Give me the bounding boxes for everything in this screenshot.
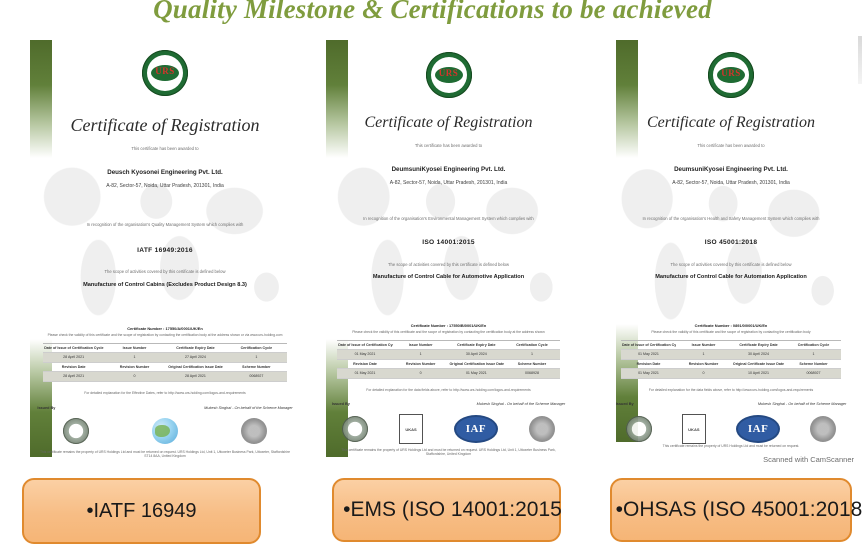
table-cell: 1 <box>786 350 841 358</box>
slide-root: Quality Milestone & Certifications to be… <box>0 0 865 556</box>
company-address: A-82, Sector-57, Noida, Uttar Pradesh, 2… <box>20 183 310 189</box>
table-cell: 30 April 2024 <box>731 350 786 358</box>
standard-name: ISO 45001:2018 <box>600 239 862 246</box>
table-cell: 28 April 2021 <box>43 372 104 380</box>
table-cell: Issue Number <box>393 341 449 349</box>
table-cell: 30 April 2024 <box>449 350 505 358</box>
table-row: Date of Issue of Certification Cycle Iss… <box>621 341 841 350</box>
table-cell: Original Certification Issue Date <box>165 363 226 371</box>
certificate-number: Certificate Number : 0891/0/0001/UK/En <box>621 323 841 328</box>
iaf-logo-icon: IAF <box>454 415 498 443</box>
table-cell: Scheme Number <box>504 360 560 368</box>
certificate-image-ems[interactable]: URS Certificate of Registration This cer… <box>316 36 581 461</box>
details-table: Date of Issue of Certification Cycle Iss… <box>337 340 560 379</box>
urs-seal-icon: URS <box>426 52 472 98</box>
table-cell: Revision Date <box>43 363 104 371</box>
table-cell: Revision Date <box>337 360 393 368</box>
scope-intro: The scope of activities covered by this … <box>600 262 862 267</box>
table-cell: 1 <box>104 353 165 361</box>
details-table: Date of Issue of Certification Cycle Iss… <box>621 340 841 379</box>
table-cell: Scheme Number <box>786 360 841 368</box>
ukas-logo-icon: UKAS <box>682 414 706 444</box>
table-cell: 1 <box>226 353 287 361</box>
iaf-earth-logo-icon <box>152 418 178 444</box>
awarded-line: This certificate has been awarded to <box>316 143 581 148</box>
accreditation-logos <box>32 418 299 444</box>
table-row: 28 April 2021 0 28 April 2021 0068927 <box>43 372 287 381</box>
table-row: Date of Issue of Certification Cycle Iss… <box>43 344 287 353</box>
camscanner-watermark: Scanned with CamScanner <box>763 455 854 464</box>
table-cell: 0068928 <box>504 369 560 377</box>
table-cell: Revision Date <box>621 360 676 368</box>
table-cell: 01 May 2021 <box>621 369 676 377</box>
green-accent-bar-top <box>30 40 52 158</box>
table-row: Date of Issue of Certification Cycle Iss… <box>337 341 560 350</box>
caption-box-iatf[interactable]: •IATF 16949 <box>22 478 261 544</box>
urs-seal-icon: URS <box>708 52 754 98</box>
table-cell: 1 <box>676 350 731 358</box>
caption-box-ems[interactable]: •EMS (ISO 14001:2015 <box>332 478 561 542</box>
details-table: Date of Issue of Certification Cycle Iss… <box>43 343 287 382</box>
recognition-line: In recognition of the organisation's Env… <box>316 216 581 221</box>
caption-box-ohsas[interactable]: •OHSAS (ISO 45001:2018 <box>610 478 852 542</box>
table-row: 01 May 2021 1 30 April 2024 1 <box>337 350 560 359</box>
awarded-line: This certificate has been awarded to <box>20 146 310 151</box>
page-edge-shadow <box>858 36 862 84</box>
table-footer: For detailed explanation for the data fi… <box>616 388 847 392</box>
urs-seal-logo-icon <box>63 418 89 444</box>
table-cell: 01 May 2021 <box>337 369 393 377</box>
table-row: Revision Date Revision Number Original C… <box>337 360 560 369</box>
table-cell: 10 April 2021 <box>731 369 786 377</box>
urs-seal-label: URS <box>708 68 754 78</box>
iaf-logo-icon: IAF <box>736 415 780 443</box>
table-cell: Certification Cycle <box>786 341 841 349</box>
table-cell: Date of Issue of Certification Cycle <box>337 341 393 349</box>
table-cell: Scheme Number <box>226 363 287 371</box>
urs-seal-logo-icon <box>342 416 368 442</box>
table-cell: Certificate Expiry Date <box>731 341 786 349</box>
certificate-footer-note: This certificate remains the property of… <box>332 448 565 457</box>
grey-seal-logo-icon <box>529 416 555 442</box>
company-name: DeumsuniKyosei Engineering Pvt. Ltd. <box>316 166 581 173</box>
table-row: Revision Date Revision Number Original C… <box>43 363 287 372</box>
table-cell: 1 <box>504 350 560 358</box>
table-cell: Original Certificate Issue Date <box>731 360 786 368</box>
issued-by-label: Issued By <box>332 402 350 406</box>
green-accent-bar-top <box>616 40 638 158</box>
certificate-heading: Certificate of Registration <box>316 114 581 132</box>
caption-label: •OHSAS (ISO 45001:2018 <box>616 498 863 522</box>
table-cell: Issue Number <box>104 344 165 352</box>
table-cell: Revision Number <box>676 360 731 368</box>
recognition-line: In recognition of the organisation's Hea… <box>600 216 862 221</box>
table-cell: Issue Number <box>676 341 731 349</box>
table-cell: 01 May 2021 <box>449 369 505 377</box>
table-row: 01 May 2021 0 10 April 2021 0068927 <box>621 369 841 378</box>
table-row: 01 May 2021 0 01 May 2021 0068928 <box>337 369 560 378</box>
table-cell: Certificate Expiry Date <box>165 344 226 352</box>
accreditation-logos: UKAS IAF <box>610 414 851 444</box>
table-cell: 0 <box>676 369 731 377</box>
table-cell: 1 <box>393 350 449 358</box>
table-cell: Date of Issue of Certification Cycle <box>621 341 676 349</box>
table-cell: 01 May 2021 <box>337 350 393 358</box>
grey-seal-logo-icon <box>810 416 836 442</box>
signer-name: Mukesh Singhal - On behalf of the Scheme… <box>477 402 565 406</box>
table-footer: For detailed explanation for the Effecti… <box>37 391 292 395</box>
table-cell: 28 April 2021 <box>165 372 226 380</box>
company-name: Deusch Kyosonei Engineering Pvt. Ltd. <box>20 169 310 176</box>
grey-seal-logo-icon <box>241 418 267 444</box>
certificates-row: URS Certificate of Registration This cer… <box>0 36 865 468</box>
recognition-line: In recognition of the organisation's Qua… <box>20 222 310 227</box>
scope-intro: The scope of activities covered by this … <box>316 262 581 267</box>
caption-label: •IATF 16949 <box>86 500 196 523</box>
table-note: Please check the validity of this certif… <box>37 333 292 337</box>
page-title: Quality Milestone & Certifications to be… <box>0 0 865 25</box>
table-row: 01 May 2021 1 30 April 2024 1 <box>621 350 841 359</box>
table-cell: 0 <box>104 372 165 380</box>
scope-text: Manufacture of Control Cabins (Excludes … <box>20 282 310 288</box>
standard-name: IATF 16949:2016 <box>20 247 310 254</box>
company-name: DeumsuniKyosei Engineering Pvt. Ltd. <box>600 166 862 173</box>
issued-by-label: Issued By <box>37 406 55 410</box>
table-cell: 0068927 <box>226 372 287 380</box>
company-address: A-82, Sector-57, Noida, Uttar Pradesh, 2… <box>316 180 581 186</box>
table-cell: Certificate Expiry Date <box>449 341 505 349</box>
table-cell: Certification Cycle <box>504 341 560 349</box>
accreditation-logos: UKAS IAF <box>327 414 571 444</box>
urs-seal-logo-icon <box>626 416 652 442</box>
table-cell: Revision Number <box>104 363 165 371</box>
table-cell: Original Certification Issue Date <box>449 360 505 368</box>
ukas-logo-icon: UKAS <box>399 414 423 444</box>
table-note: Please check the validity of this certif… <box>616 330 847 334</box>
scope-text: Manufacture of Control Cable for Automot… <box>316 274 581 280</box>
table-cell: 01 May 2021 <box>621 350 676 358</box>
certificate-footer-note: This certificate remains the property of… <box>37 450 292 459</box>
table-row: Revision Date Revision Number Original C… <box>621 360 841 369</box>
certificate-image-ohsas[interactable]: URS Certificate of Registration This cer… <box>600 36 862 468</box>
urs-seal-icon: URS <box>142 50 188 96</box>
signer-name: Mukesh Singhal - On behalf of the Scheme… <box>758 402 846 406</box>
awarded-line: This certificate has been awarded to <box>600 143 862 148</box>
standard-name: ISO 14001:2015 <box>316 239 581 246</box>
table-cell: Revision Number <box>393 360 449 368</box>
green-accent-bar-top <box>326 40 348 158</box>
issued-by-label: Issued By <box>616 402 634 406</box>
caption-label: •EMS (ISO 14001:2015 <box>343 498 562 522</box>
table-cell: Date of Issue of Certification Cycle <box>43 344 104 352</box>
table-cell: 0 <box>393 369 449 377</box>
certificate-footer-note: This certificate remains the property of… <box>616 444 847 448</box>
certificate-heading: Certificate of Registration <box>600 114 862 132</box>
urs-seal-label: URS <box>142 66 188 76</box>
table-cell: 27 April 2024 <box>165 353 226 361</box>
table-footer: For detailed explanation for the data fi… <box>332 388 565 392</box>
table-cell: 28 April 2021 <box>43 353 104 361</box>
scope-intro: The scope of activities covered by this … <box>20 269 310 274</box>
scope-text: Manufacture of Control Cable for Automat… <box>600 274 862 280</box>
table-cell: 0068927 <box>786 369 841 377</box>
certificate-number: Certificate Number : 17550/A/0001/UK/En <box>43 326 287 331</box>
certificate-number: Certificate Number : 17550/B/0001/UK/En <box>337 323 560 328</box>
table-note: Please check the validity of this certif… <box>332 330 565 334</box>
table-cell: Certification Cycle <box>226 344 287 352</box>
certificate-image-iatf[interactable]: URS Certificate of Registration This cer… <box>20 36 310 461</box>
company-address: A-82, Sector-57, Noida, Uttar Pradesh, 2… <box>600 180 862 186</box>
table-row: 28 April 2021 1 27 April 2024 1 <box>43 353 287 362</box>
certificate-heading: Certificate of Registration <box>20 115 310 136</box>
signer-name: Mukesh Singhal - On behalf of the Scheme… <box>204 406 292 410</box>
urs-seal-label: URS <box>426 68 472 78</box>
